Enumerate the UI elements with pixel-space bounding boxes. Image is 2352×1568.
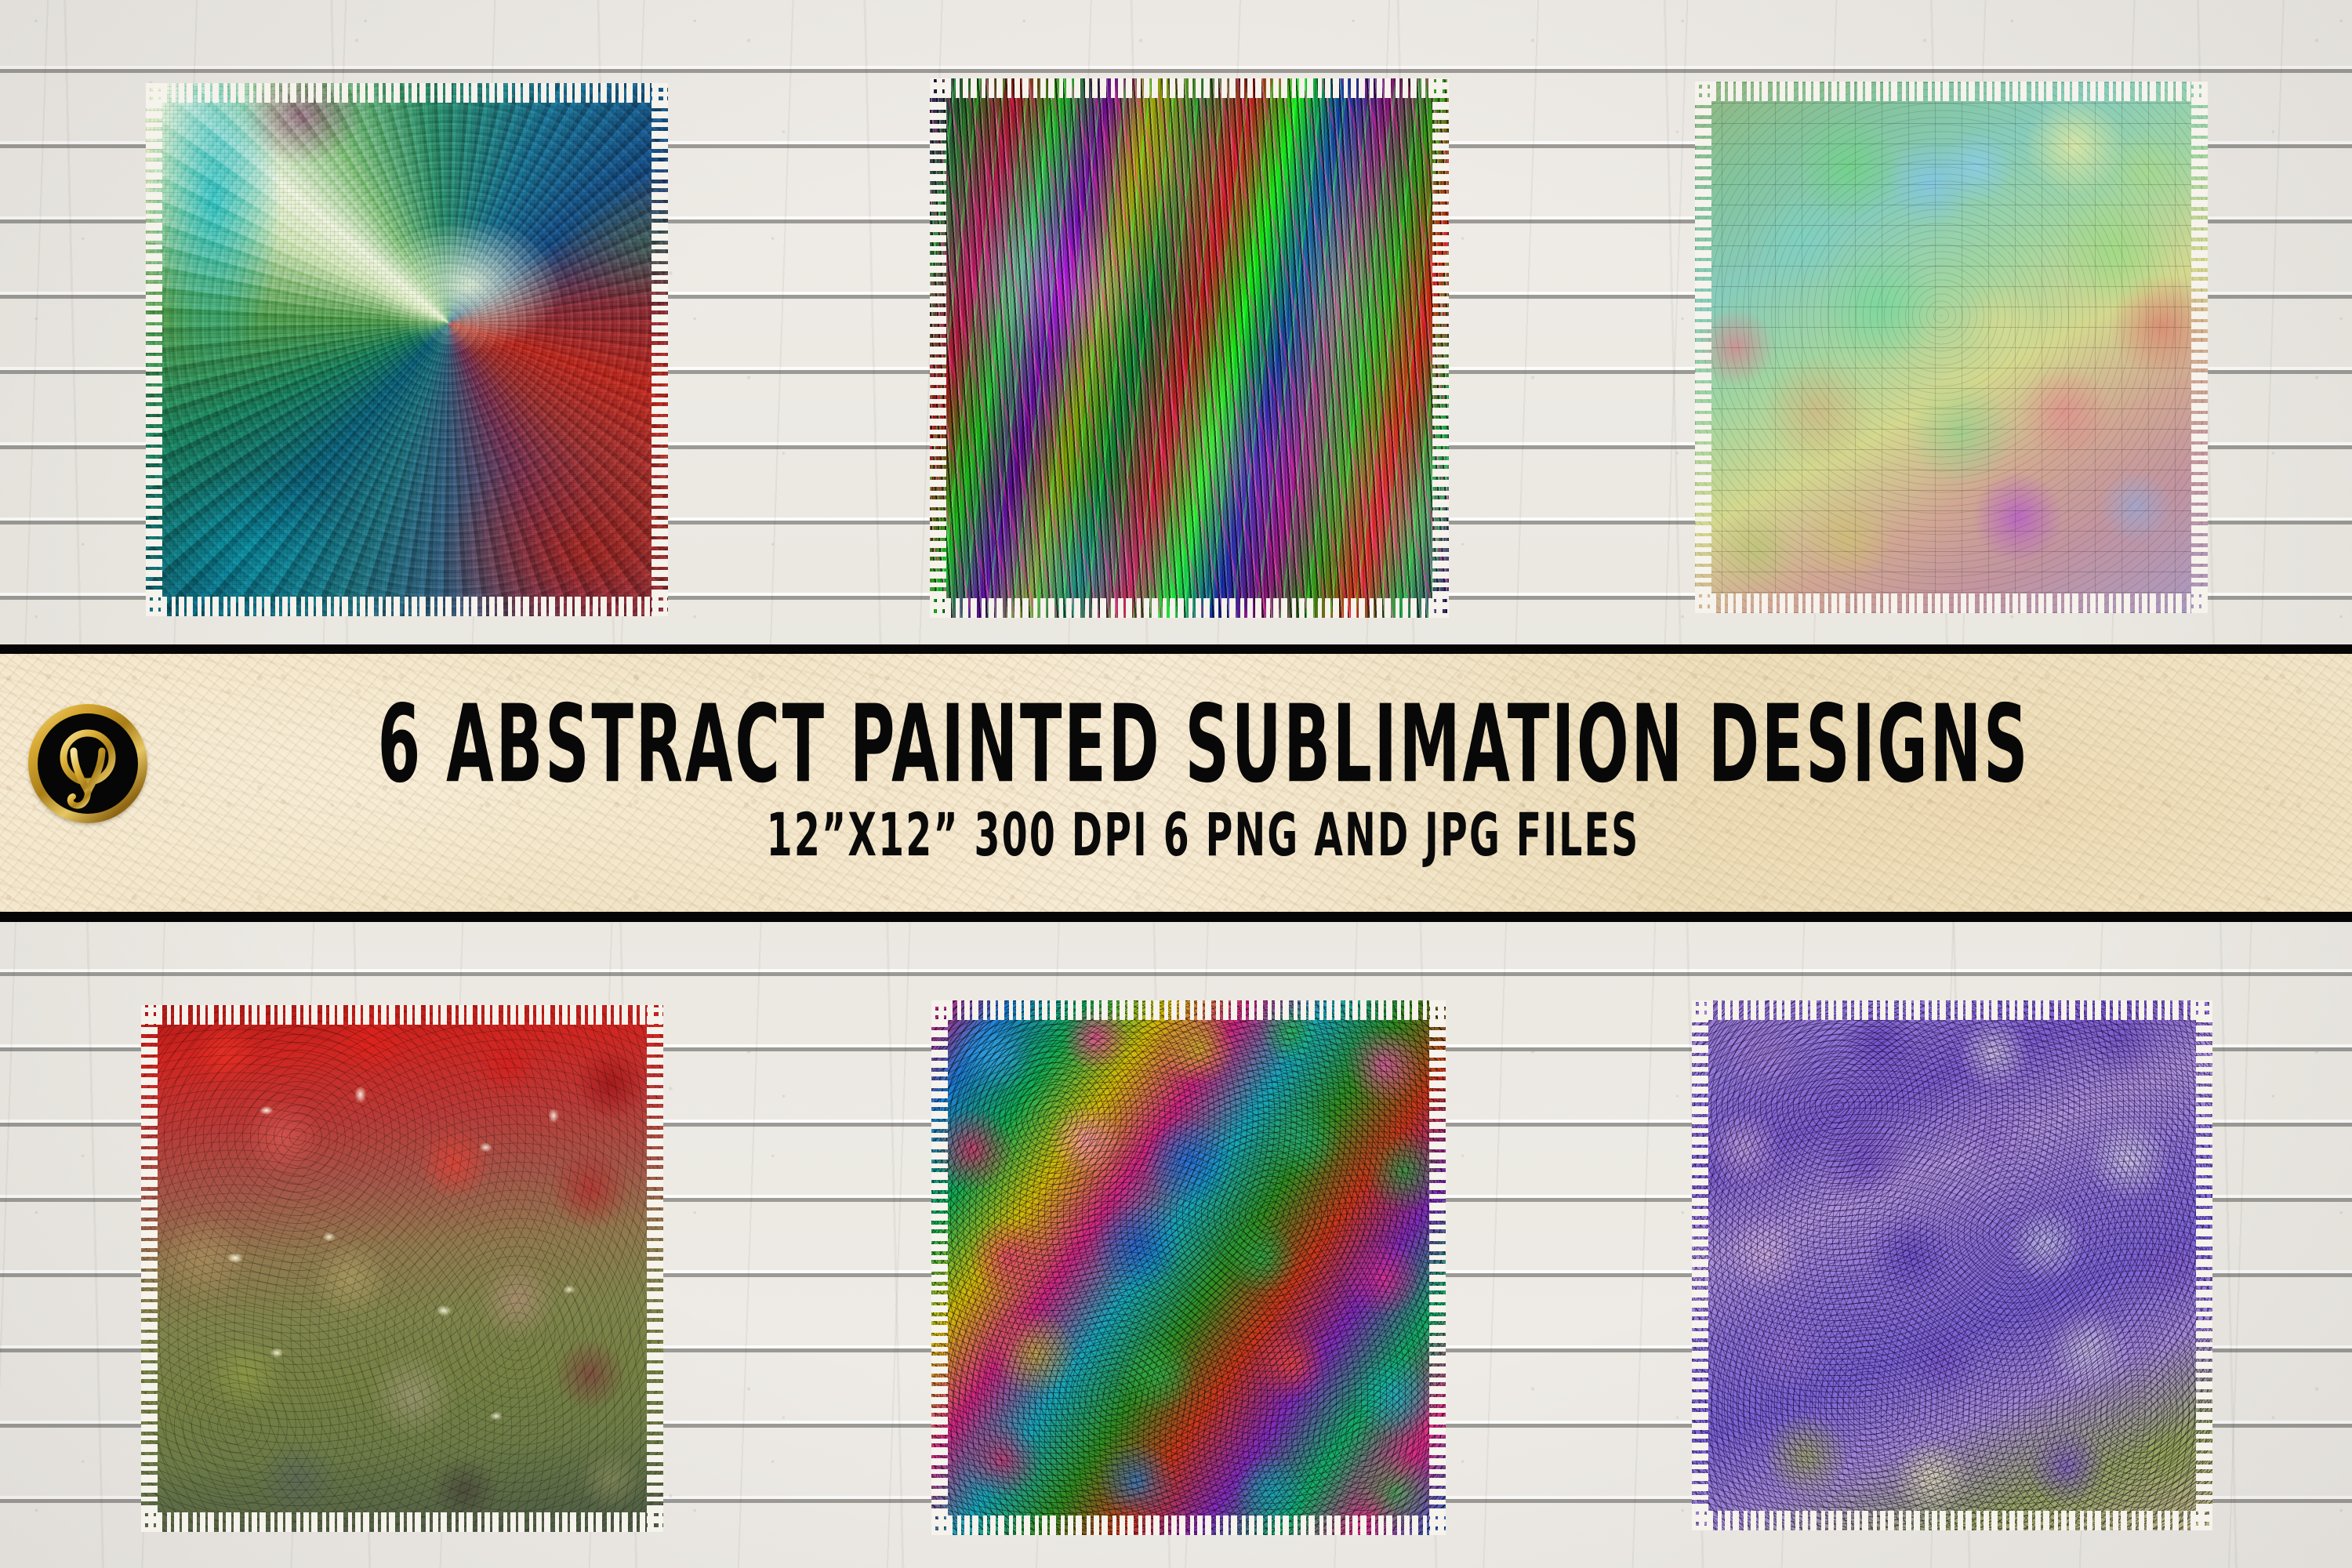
banner-title: 6 ABSTRACT PAINTED SUBLIMATION DESIGNS [377, 696, 2030, 795]
design-2-fray-right [1432, 78, 1449, 618]
design-3-fray-top [1695, 82, 2208, 101]
design-tile-6[interactable] [1692, 1000, 2212, 1530]
design-6-fray-right [2196, 1000, 2212, 1530]
design-3-fray-right [2191, 82, 2208, 613]
design-tile-3[interactable] [1695, 82, 2208, 613]
design-4-fray-top [141, 1005, 663, 1025]
design-6-fray-left [1692, 1000, 1708, 1530]
design-5-fray-left [931, 1000, 948, 1535]
design-tile-1[interactable] [146, 83, 668, 616]
monogram-y-icon [38, 713, 138, 814]
design-1-fray-top [146, 83, 668, 103]
design-1-fray-bottom [146, 597, 668, 616]
design-2-fray-left [930, 78, 946, 618]
design-4-fray-left [141, 1005, 158, 1532]
banner-text-block: 6 ABSTRACT PAINTED SUBLIMATION DESIGNS 1… [0, 654, 2352, 912]
product-info-banner: 6 ABSTRACT PAINTED SUBLIMATION DESIGNS 1… [0, 644, 2352, 922]
design-2-fray-top [930, 78, 1449, 98]
brand-logo-badge[interactable] [28, 704, 147, 823]
design-5-fray-right [1429, 1000, 1446, 1535]
design-5-fray-top [931, 1000, 1446, 1020]
design-5-swirl-contours [931, 1000, 1446, 1535]
design-3-fray-bottom [1695, 593, 2208, 613]
design-6-swirl-contours [1692, 1000, 2212, 1530]
design-tile-2[interactable] [930, 78, 1449, 618]
design-tile-5[interactable] [931, 1000, 1446, 1535]
design-4-fray-right [647, 1005, 663, 1532]
banner-subtitle: 12”X12” 300 DPI 6 PNG AND JPG FILES [767, 806, 1640, 866]
design-4-cream-spots [141, 1005, 663, 1532]
design-2-streaks [930, 78, 1449, 618]
design-5-fray-bottom [931, 1515, 1446, 1535]
design-3-fray-left [1695, 82, 1711, 613]
design-1-fray-right [652, 83, 668, 616]
design-4-fray-bottom [141, 1512, 663, 1532]
design-tile-4[interactable] [141, 1005, 663, 1532]
design-6-fray-bottom [1692, 1511, 2212, 1530]
logo-inner-disc [38, 713, 138, 814]
design-2-fray-bottom [930, 598, 1449, 618]
design-6-fray-top [1692, 1000, 2212, 1020]
design-3-outline-tracery [1695, 82, 2208, 613]
design-1-canvas-weave [146, 83, 668, 616]
design-1-fray-left [146, 83, 162, 616]
